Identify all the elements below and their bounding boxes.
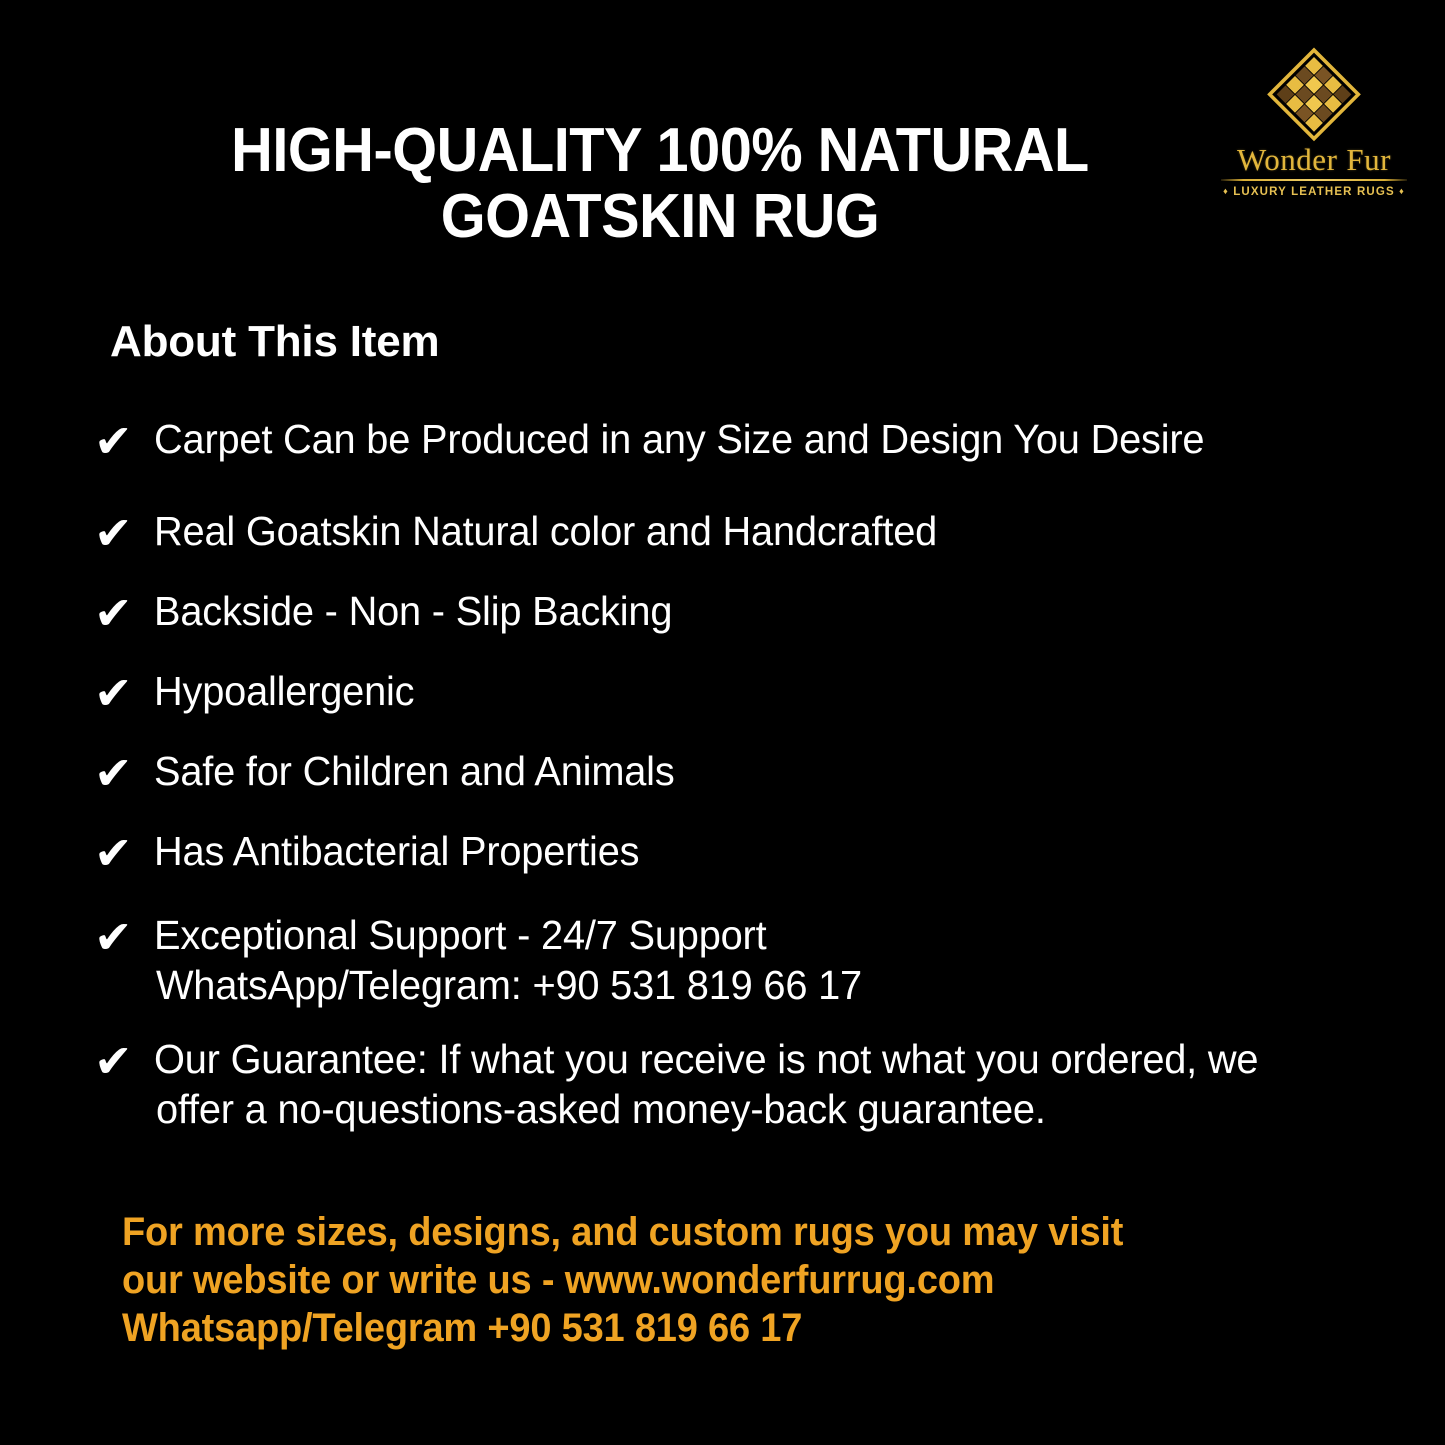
check-icon: ✔: [92, 826, 154, 880]
check-icon: ✔: [92, 666, 154, 720]
brand-name-word2: Fur: [1346, 142, 1391, 177]
feature-text: Exceptional Support - 24/7 Support Whats…: [154, 910, 1345, 1010]
footer-line-2: our website or write us - www.wonderfurr…: [122, 1256, 1262, 1304]
check-icon: ✔: [92, 414, 154, 468]
feature-line-1: Real Goatskin Natural color and Handcraf…: [154, 508, 937, 554]
feature-line-1: Safe for Children and Animals: [154, 748, 675, 794]
list-item: ✔ Our Guarantee: If what you receive is …: [92, 1034, 1382, 1134]
feature-line-1: Backside - Non - Slip Backing: [154, 588, 672, 634]
page-title: HIGH-QUALITY 100% NATURAL GOATSKIN RUG: [186, 118, 1135, 251]
list-item: ✔ Exceptional Support - 24/7 Support Wha…: [92, 910, 1382, 1010]
feature-line-1: Hypoallergenic: [154, 668, 414, 714]
feature-line-2: WhatsApp/Telegram: +90 531 819 66 17: [154, 960, 1345, 1010]
check-icon: ✔: [92, 506, 154, 560]
diamond-ornament-right: ♦: [1399, 186, 1405, 196]
footer-call-to-action: For more sizes, designs, and custom rugs…: [122, 1208, 1262, 1352]
list-item: ✔ Has Antibacterial Properties: [92, 826, 1382, 880]
feature-line-1: Our Guarantee: If what you receive is no…: [154, 1036, 1258, 1082]
feature-line-1: Has Antibacterial Properties: [154, 828, 639, 874]
brand-name-word1: Wonder: [1237, 142, 1337, 177]
section-heading-about-this-item: About This Item: [110, 318, 439, 366]
list-item: ✔ Hypoallergenic: [92, 666, 1382, 720]
feature-text: Real Goatskin Natural color and Handcraf…: [154, 506, 1345, 556]
feature-text: Backside - Non - Slip Backing: [154, 586, 1345, 636]
check-icon: ✔: [92, 1034, 154, 1088]
page-title-line-1: HIGH-QUALITY 100% NATURAL: [186, 118, 1135, 184]
page-title-line-2: GOATSKIN RUG: [186, 184, 1135, 250]
feature-line-1: Carpet Can be Produced in any Size and D…: [154, 416, 1204, 462]
list-item: ✔ Backside - Non - Slip Backing: [92, 586, 1382, 640]
list-item: ✔ Real Goatskin Natural color and Handcr…: [92, 506, 1382, 560]
feature-line-2: offer a no-questions-asked money-back gu…: [154, 1084, 1345, 1134]
feature-text: Our Guarantee: If what you receive is no…: [154, 1034, 1345, 1134]
footer-line-1: For more sizes, designs, and custom rugs…: [122, 1208, 1262, 1256]
diamond-ornament-left: ♦: [1223, 186, 1229, 196]
feature-text: Hypoallergenic: [154, 666, 1345, 716]
check-icon: ✔: [92, 910, 154, 964]
check-icon: ✔: [92, 586, 154, 640]
brand-logo: WonderFur ♦ LUXURY LEATHER RUGS ♦: [1208, 48, 1420, 198]
product-infographic-page: WonderFur ♦ LUXURY LEATHER RUGS ♦ HIGH-Q…: [0, 0, 1445, 1445]
list-item: ✔ Carpet Can be Produced in any Size and…: [92, 414, 1382, 468]
list-item: ✔ Safe for Children and Animals: [92, 746, 1382, 800]
diamond-checkerboard-icon: [1260, 46, 1368, 143]
footer-line-3: Whatsapp/Telegram +90 531 819 66 17: [122, 1304, 1262, 1352]
feature-text: Safe for Children and Animals: [154, 746, 1345, 796]
brand-name: WonderFur: [1237, 144, 1391, 175]
feature-list: ✔ Carpet Can be Produced in any Size and…: [92, 414, 1382, 1134]
feature-line-1: Exceptional Support - 24/7 Support: [154, 912, 766, 958]
brand-tagline-text: LUXURY LEATHER RUGS: [1233, 186, 1395, 198]
brand-tagline: ♦ LUXURY LEATHER RUGS ♦: [1223, 187, 1405, 199]
check-icon: ✔: [92, 746, 154, 800]
brand-divider: [1221, 179, 1407, 181]
feature-text: Has Antibacterial Properties: [154, 826, 1345, 876]
feature-text: Carpet Can be Produced in any Size and D…: [154, 414, 1345, 464]
